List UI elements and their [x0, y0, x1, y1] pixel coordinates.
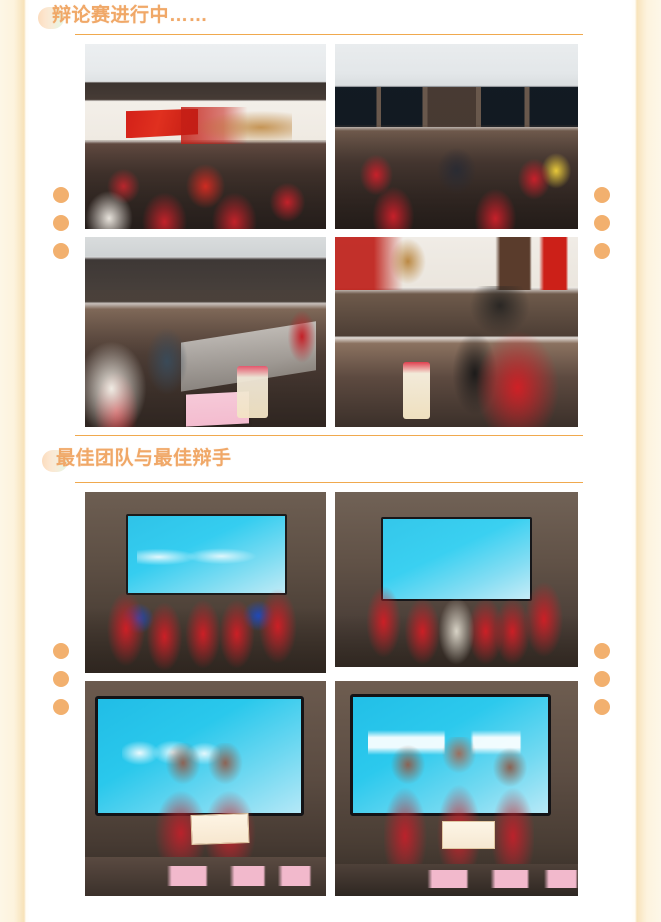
photo-detail-crowd: [85, 140, 326, 229]
photo-timekeeper-desk[interactable]: 计时员席位特写，志愿者正在记录辩论用时: [85, 237, 326, 427]
decor-dots-left-1: [53, 187, 73, 259]
decor-dot-icon: [594, 671, 610, 687]
decor-dot-icon: [594, 187, 610, 203]
photo-alt-text: 夜晚会议室内辩论赛现场，选手列席就座，身穿红色志愿者马甲: [335, 44, 336, 45]
photo-debate-room-flag-wall[interactable]: 辩论赛现场，主持人站立发言，背景墙上有红旗与“不忘初心 牢记使命”标语: [85, 44, 326, 229]
photo-debate-room-night-windows[interactable]: 夜晚会议室内辩论赛现场，选手列席就座，身穿红色志愿者马甲: [335, 44, 578, 229]
decor-dots-right-1: [594, 187, 614, 259]
photo-grid-section-1: 辩论赛现场，主持人站立发言，背景墙上有红旗与“不忘初心 牢记使命”标语 夜晚会议…: [0, 44, 661, 427]
photo-detail-drink-cup: [237, 366, 268, 417]
decor-dot-icon: [594, 699, 610, 715]
decor-dot-icon: [53, 215, 69, 231]
photo-alt-text: 计时员席位特写，志愿者正在记录辩论用时: [85, 237, 86, 238]
decor-dot-icon: [53, 671, 69, 687]
section-heading-best-team: 最佳团队与最佳辩手: [0, 436, 661, 482]
photo-detail-people: [85, 543, 326, 673]
article-content: 辩论赛进行中…… 辩论赛现场，主持人站立发言，背景墙上有红旗与“不忘初心 牢记使…: [0, 0, 661, 922]
photo-alt-text: 最佳辩手颁奖合影，三人手持证书与吉祥物玩偶: [335, 681, 336, 682]
photo-detail-table-namecards: [85, 857, 326, 896]
decor-dot-icon: [53, 699, 69, 715]
photo-debater-seated-redvest[interactable]: 身穿红色马甲的辩手在长桌旁就座，背景为“牢记使命”主题墙: [335, 237, 578, 427]
gallery-debate-in-progress: 辩论赛现场，主持人站立发言，背景墙上有红旗与“不忘初心 牢记使命”标语 夜晚会议…: [0, 35, 661, 427]
photo-best-team-award-group[interactable]: 最佳团队获奖合影，成员手持奖品与证书站在大屏幕前: [85, 492, 326, 673]
photo-detail-drink-cup: [403, 362, 430, 419]
decor-dot-icon: [594, 215, 610, 231]
section-title-best-team: 最佳团队与最佳辩手: [56, 443, 232, 470]
photo-grid-section-2: 最佳团队获奖合影，成员手持奖品与证书站在大屏幕前 六位志愿者手持奖杯比出胜利手势…: [0, 492, 661, 896]
photo-alt-text: 颁奖瞬间，两位获奖者手持荣誉证书开心合影，大屏显示“辩论赛”: [85, 681, 86, 682]
decor-dots-left-2: [53, 643, 73, 715]
section-heading-debate-in-progress: 辩论赛进行中……: [0, 0, 661, 34]
section-title-debate-in-progress: 辩论赛进行中……: [52, 0, 208, 27]
photo-team-victory-pose[interactable]: 六位志愿者手持奖杯比出胜利手势合影: [335, 492, 578, 667]
photo-detail-table-namecards: [335, 864, 578, 896]
photo-alt-text: 最佳团队获奖合影，成员手持奖品与证书站在大屏幕前: [85, 492, 86, 493]
photo-detail-person: [447, 286, 573, 427]
photo-alt-text: 六位志愿者手持奖杯比出胜利手势合影: [335, 492, 336, 493]
decor-dot-icon: [594, 243, 610, 259]
photo-alt-text: 辩论赛现场，主持人站立发言，背景墙上有红旗与“不忘初心 牢记使命”标语: [85, 44, 86, 45]
photo-detail-crowd: [335, 125, 578, 229]
photo-certificate-presentation[interactable]: 颁奖瞬间，两位获奖者手持荣誉证书开心合影，大屏显示“辩论赛”: [85, 681, 326, 896]
decor-dots-right-2: [594, 643, 614, 715]
decor-dot-icon: [594, 643, 610, 659]
decor-dot-icon: [53, 643, 69, 659]
photo-detail-certificate: [191, 813, 250, 845]
decor-dot-icon: [53, 243, 69, 259]
decor-dot-icon: [53, 187, 69, 203]
photo-detail-certificate: [442, 821, 495, 849]
gallery-best-team: 最佳团队获奖合影，成员手持奖品与证书站在大屏幕前 六位志愿者手持奖杯比出胜利手势…: [0, 483, 661, 896]
photo-detail-people: [152, 743, 263, 868]
photo-detail-people: [335, 548, 578, 667]
photo-best-debater-award[interactable]: 最佳辩手颁奖合影，三人手持证书与吉祥物玩偶: [335, 681, 578, 896]
photo-alt-text: 身穿红色马甲的辩手在长桌旁就座，背景为“牢记使命”主题墙: [335, 237, 336, 238]
photo-detail-people: [384, 737, 535, 875]
